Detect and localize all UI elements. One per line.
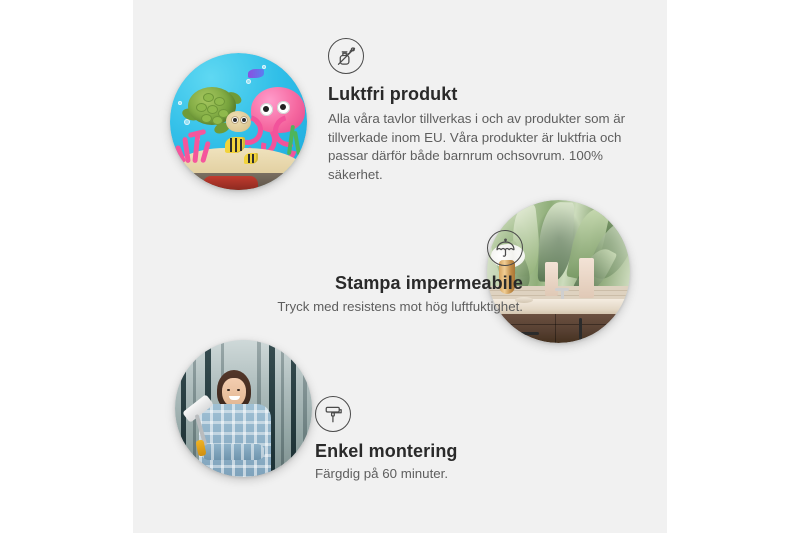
- paint-roller-icon: [315, 396, 351, 432]
- woman-crossed-arms: [201, 444, 265, 460]
- photo-woman-with-paint-roller: [175, 340, 312, 477]
- umbrella-icon-wrap: [193, 230, 523, 266]
- tree-trunk: [281, 340, 284, 477]
- feature-block-waterproof: Stampa impermeabile Tryck med resistens …: [193, 230, 523, 317]
- bubble-icon: [246, 79, 251, 84]
- feature-title: Stampa impermeabile: [193, 273, 523, 294]
- screenshot-root: Luktfri produkt Alla våra tavlor tillver…: [0, 0, 800, 533]
- feature-title: Luktfri produkt: [328, 84, 626, 105]
- umbrella-icon: [487, 230, 523, 266]
- feature-body: Tryck med resistens mot hög luftfuktighe…: [193, 298, 523, 317]
- feature-panel: Luktfri produkt Alla våra tavlor tillver…: [133, 0, 667, 533]
- tree-trunk: [291, 340, 296, 477]
- photo-woman-inner: [175, 340, 312, 477]
- cabinet-handle: [513, 332, 539, 335]
- purple-fish-icon: [248, 69, 264, 78]
- photo-underwater-inner: [170, 53, 307, 190]
- towel-right: [579, 258, 594, 298]
- feature-body: Färgdig på 60 minuter.: [315, 465, 605, 484]
- striped-fish-icon: [225, 137, 245, 153]
- feature-title: Enkel montering: [315, 441, 605, 462]
- no-fragrance-icon: [328, 38, 364, 74]
- sea-rock-red: [203, 176, 258, 190]
- photo-underwater-kids-scene: [170, 53, 307, 190]
- tree-trunk: [303, 340, 307, 477]
- bubble-icon: [178, 101, 182, 105]
- striped-fish-icon: [244, 153, 258, 164]
- feature-block-easy-mounting: Enkel montering Färgdig på 60 minuter.: [315, 396, 605, 484]
- cabinet-handle: [579, 318, 582, 340]
- bathroom-cabinet: [487, 314, 630, 343]
- woman-plaid-shirt: [199, 404, 271, 477]
- woman-face: [222, 378, 246, 407]
- feature-body: Alla våra tavlor tillverkas i och av pro…: [328, 110, 626, 184]
- feature-block-odor-free: Luktfri produkt Alla våra tavlor tillver…: [328, 38, 626, 184]
